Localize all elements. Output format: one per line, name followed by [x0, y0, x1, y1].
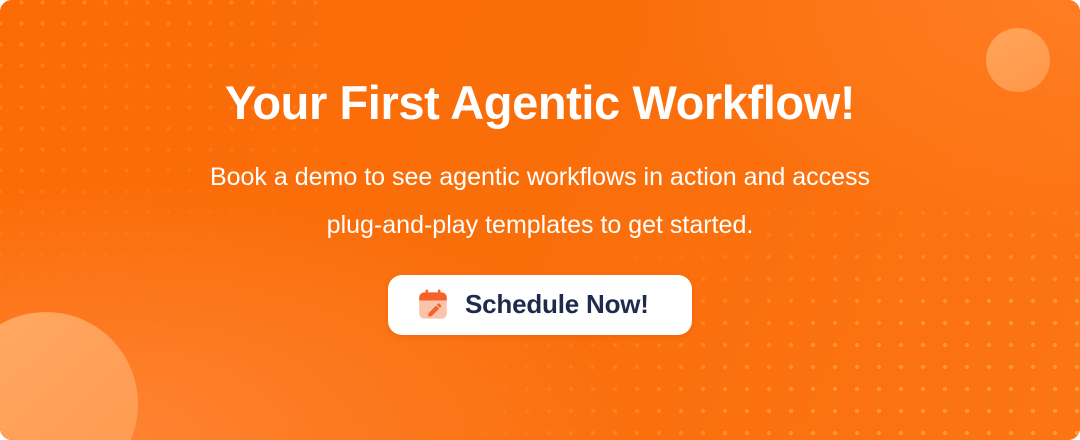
banner-subcopy-line-1: Book a demo to see agentic workflows in … [210, 153, 870, 201]
calendar-edit-icon [416, 288, 450, 322]
banner-subcopy-line-2: plug-and-play templates to get started. [210, 201, 870, 249]
schedule-now-button-label: Schedule Now! [465, 289, 649, 320]
promo-banner: Your First Agentic Workflow! Book a demo… [0, 0, 1080, 440]
banner-headline: Your First Agentic Workflow! [225, 0, 855, 129]
schedule-now-button[interactable]: Schedule Now! [388, 275, 692, 335]
banner-content: Your First Agentic Workflow! Book a demo… [0, 0, 1080, 440]
cta-container: Schedule Now! [388, 249, 692, 335]
banner-subcopy: Book a demo to see agentic workflows in … [210, 129, 870, 249]
